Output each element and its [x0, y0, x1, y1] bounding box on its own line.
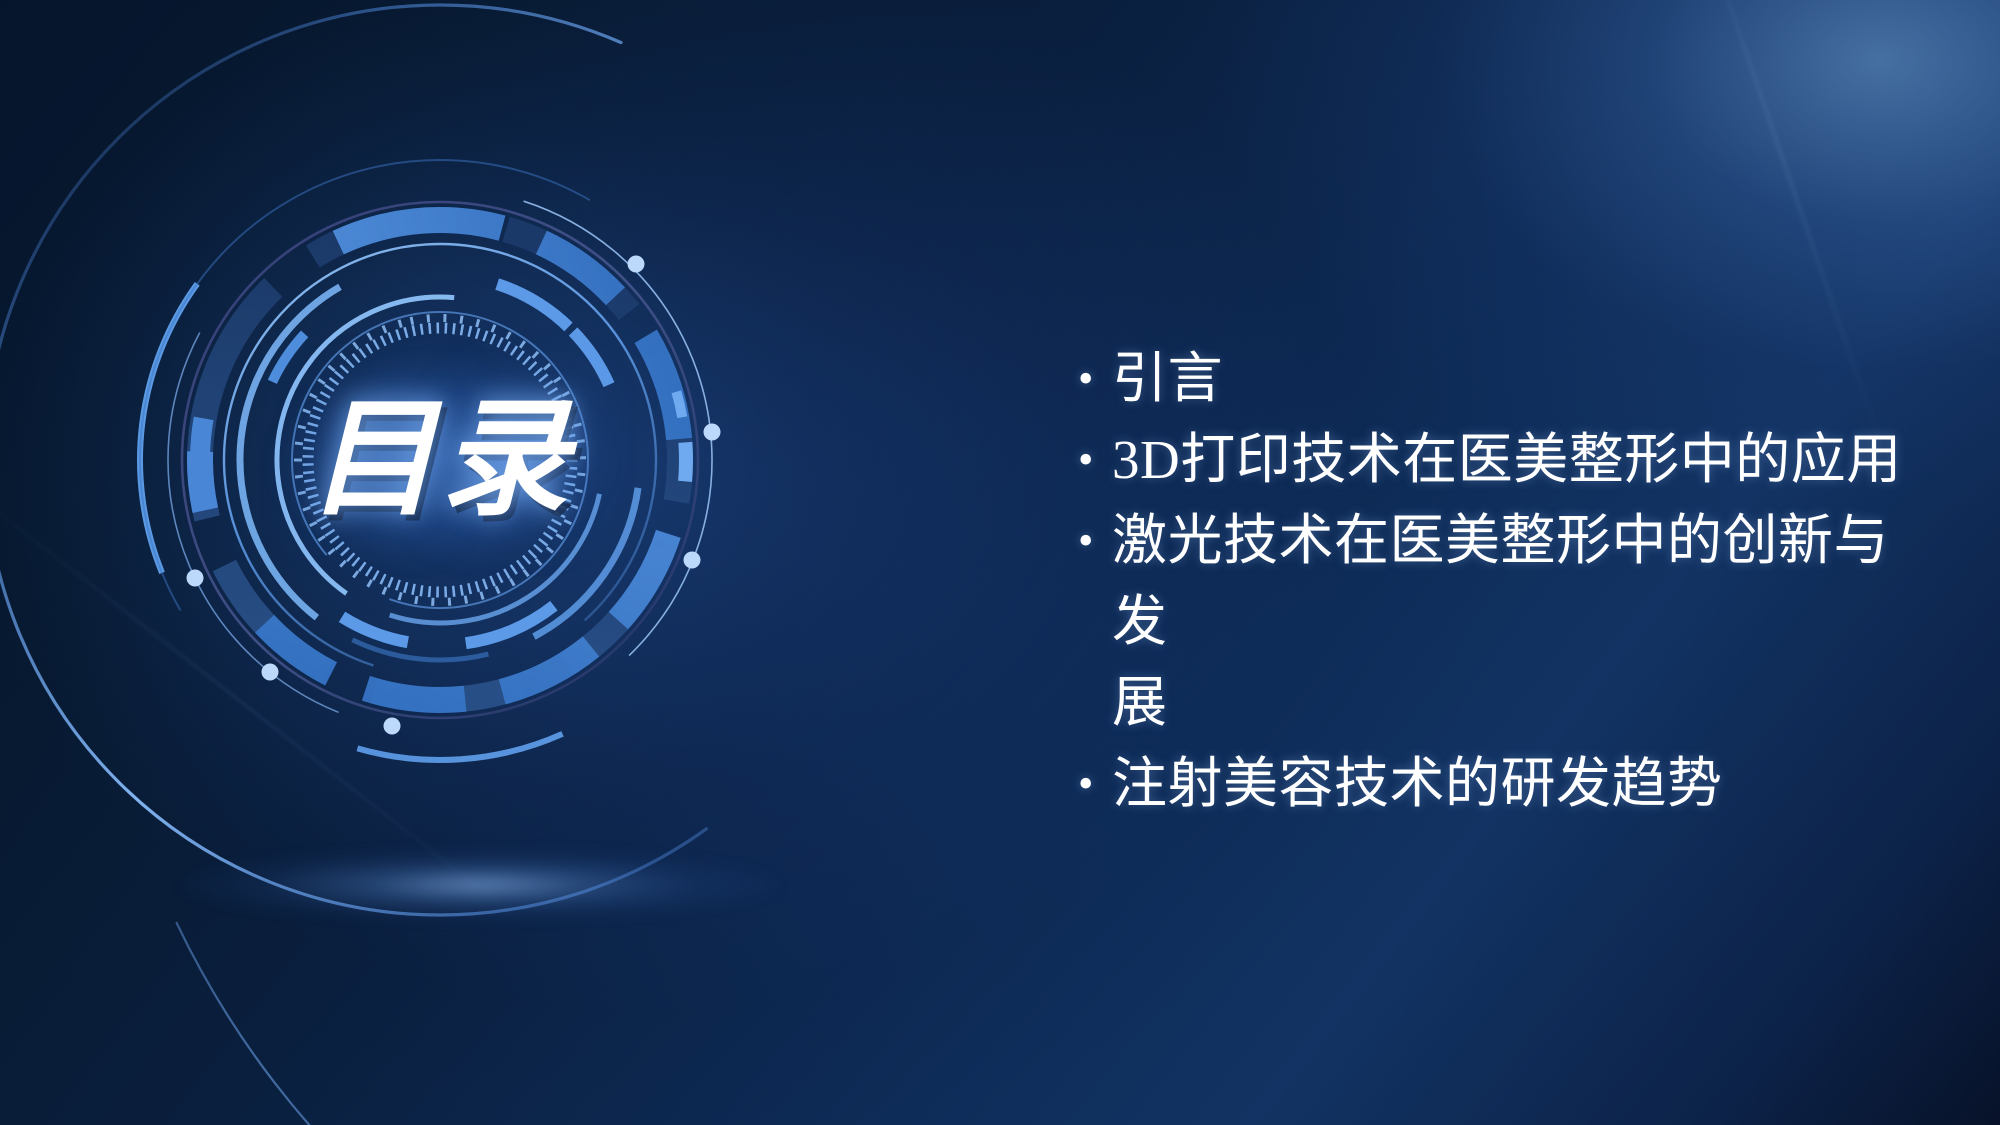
hud-node-dot — [262, 664, 279, 681]
hud-ring-163 — [213, 233, 667, 687]
center-heading: 目录 — [308, 396, 572, 524]
list-item[interactable]: • 激光技术在医美整形中的创新与发 — [1078, 500, 1918, 662]
hud-node-dot — [187, 570, 204, 587]
hud-hoop-violet — [182, 202, 698, 718]
hud-detached-left-arc — [110, 130, 770, 790]
hud-node-arc-left — [110, 130, 770, 790]
hud-tick-ruler — [254, 274, 627, 647]
list-item-label: 激光技术在医美整形中的创新与发 — [1112, 500, 1918, 662]
hud-accent-bars-185 — [178, 198, 701, 721]
hud-node-dot — [628, 256, 645, 273]
list-item-label: 注射美容技术的研发趋势 — [1112, 743, 1918, 824]
hud-right-tabs — [136, 156, 745, 765]
floor-reflection-glow — [180, 850, 780, 920]
list-item-label: 引言 — [1112, 338, 1918, 419]
bullet-marker-icon: • — [1078, 419, 1112, 500]
hud-ring-200 — [159, 179, 720, 740]
hud-node-dot — [704, 424, 721, 441]
hud-node-dot — [384, 718, 401, 735]
list-item[interactable]: • 注射美容技术的研发趋势 — [1078, 743, 1918, 824]
background-streak-lower-left — [0, 466, 540, 935]
list-item-label-wrap: 展 — [1112, 662, 1918, 743]
bullet-marker-icon: • — [1078, 743, 1112, 824]
hud-node-dot — [684, 552, 701, 569]
hud-hoop-thin-148 — [231, 251, 648, 668]
hud-hoop-thin-216 — [168, 188, 712, 732]
hud-ring-graphic — [110, 130, 770, 790]
hud-node-arc — [110, 130, 770, 790]
hud-segment-ring-outer — [138, 158, 743, 763]
slide-canvas: 目录 • 引言 • 3D打印技术在医美整形中的应用 • 激光技术在医美整形中的创… — [0, 0, 2000, 1125]
agenda-list: • 引言 • 3D打印技术在医美整形中的应用 • 激光技术在医美整形中的创新与发… — [1078, 338, 1918, 824]
list-item[interactable]: • 引言 — [1078, 338, 1918, 419]
hud-ticks-scattered — [272, 292, 609, 629]
list-item[interactable]: • 3D打印技术在医美整形中的应用 — [1078, 419, 1918, 500]
center-title-glow — [275, 362, 605, 562]
outer-arc-primary — [0, 5, 895, 915]
list-item-label: 3D打印技术在医美整形中的应用 — [1112, 419, 1918, 500]
bullet-marker-icon: • — [1078, 500, 1112, 581]
list-item-continuation: 展 — [1078, 662, 1918, 743]
bullet-marker-icon: • — [1078, 338, 1112, 419]
